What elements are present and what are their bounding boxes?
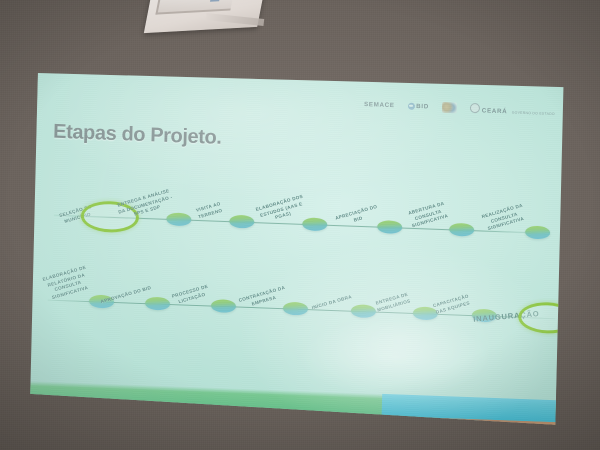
photograph-of-projected-slide: SEMACE BID CEARÁ GOVERNO DO ESTADO xyxy=(0,0,600,450)
bid-logo: BID xyxy=(408,102,429,110)
timeline-row-top: SELEÇÃO DO MUNICÍPIOENTREGA E ANÁLISE DA… xyxy=(32,214,562,233)
ceara-logo: CEARÁ GOVERNO DO ESTADO xyxy=(470,100,555,119)
logo-row: SEMACE BID CEARÁ GOVERNO DO ESTADO xyxy=(364,96,555,119)
projection-screen: SEMACE BID CEARÁ GOVERNO DO ESTADO xyxy=(27,64,566,428)
timeline-node-ring-marker xyxy=(518,301,566,334)
timeline-row-bottom: ELABORAÇÃO DE RELATÓRIO DA CONSULTA SIGN… xyxy=(30,299,560,318)
ceara-crest-icon xyxy=(470,103,480,113)
page-title: Etapas do Projeto. xyxy=(53,121,222,150)
ceara-logo-subtitle: GOVERNO DO ESTADO xyxy=(512,110,555,116)
semace-logo: SEMACE xyxy=(364,101,395,109)
presentation-slide: SEMACE BID CEARÁ GOVERNO DO ESTADO xyxy=(27,64,566,428)
bid-mark-icon xyxy=(408,102,415,109)
municipality-emblem-logo xyxy=(442,101,457,113)
timeline-node: REALIZAÇÃO DA CONSULTA SIGNIFICATIVA xyxy=(525,226,550,240)
ceara-logo-label: CEARÁ xyxy=(482,107,508,115)
timeline-node: INAUGURAÇÃO xyxy=(518,301,566,334)
projection-screen-area: SEMACE BID CEARÁ GOVERNO DO ESTADO xyxy=(0,0,600,450)
timeline-node-dot-marker xyxy=(525,226,550,240)
bid-logo-label: BID xyxy=(416,102,429,109)
